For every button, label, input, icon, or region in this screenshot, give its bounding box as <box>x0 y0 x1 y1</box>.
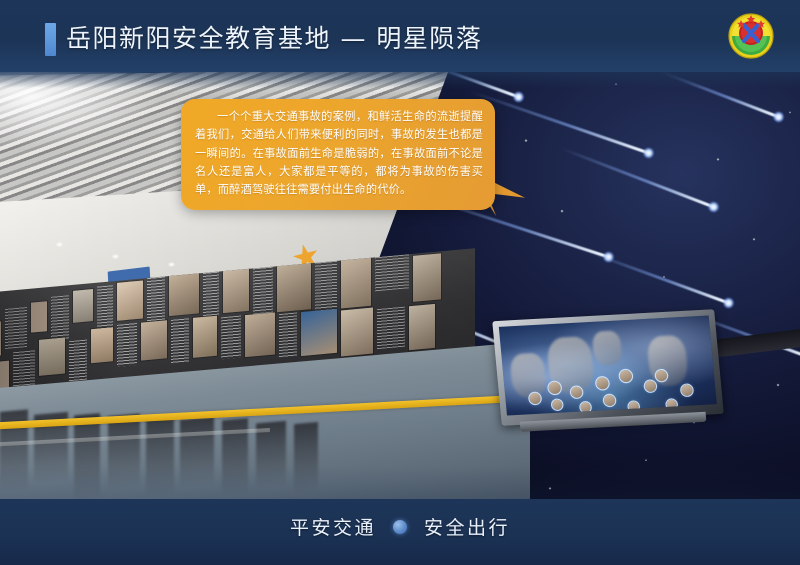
poster-canvas: 一个个重大交通事故的案例，和鲜活生命的流逝提醒着我们，交通给人们带来便利的同时，… <box>0 0 800 565</box>
ceiling-downlight <box>56 242 63 247</box>
callout-text: 一个个重大交通事故的案例，和鲜活生命的流逝提醒着我们，交通给人们带来便利的同时，… <box>195 108 483 199</box>
footer-bar: 平安交通 安全出行 <box>0 499 800 565</box>
footer-slogan-left: 平安交通 <box>290 513 376 540</box>
footer-slogan-right: 安全出行 <box>424 513 510 540</box>
title-accent-bar <box>45 23 56 56</box>
interactive-touch-screen[interactable] <box>492 309 724 426</box>
ceiling-downlight <box>168 262 175 267</box>
separator-dot-icon <box>393 520 407 534</box>
screen-content <box>499 316 717 416</box>
page-title: 岳阳新阳安全教育基地 — 明星陨落 <box>66 20 482 58</box>
ceiling-downlight <box>112 254 119 259</box>
traffic-police-emblem-icon <box>727 12 775 60</box>
header-bar: 岳阳新阳安全教育基地 — 明星陨落 <box>0 0 800 72</box>
callout-bubble: 一个个重大交通事故的案例，和鲜活生命的流逝提醒着我们，交通给人们带来便利的同时，… <box>181 99 495 210</box>
